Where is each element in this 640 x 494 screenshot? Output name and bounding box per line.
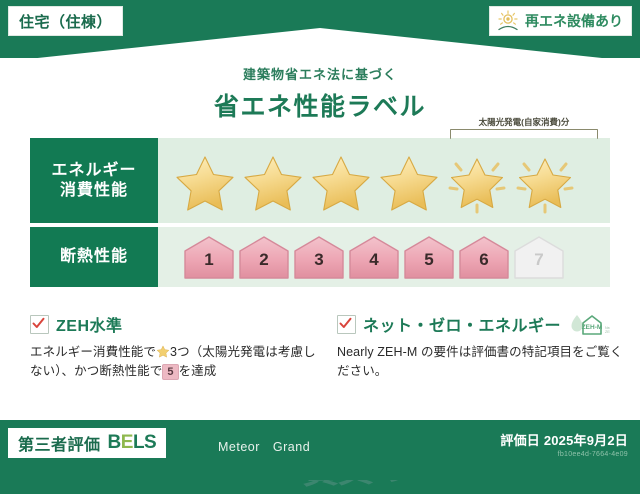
grade-house-number: 7 xyxy=(512,250,566,270)
insulation-performance-row: 断熱性能 1 xyxy=(30,227,610,287)
star-icon xyxy=(172,148,238,214)
evaluation-id: fb10ee4d-7664-4e09 xyxy=(500,451,628,458)
insulation-label-text: 断熱性能 xyxy=(60,247,128,267)
grade-house-number: 1 xyxy=(182,250,236,270)
sun-icon xyxy=(496,10,520,32)
grade-house-number: 2 xyxy=(237,250,291,270)
criterion-net-zero-title: ネット・ゼロ・エネルギー xyxy=(363,312,561,336)
criterion-net-zero: ネット・ゼロ・エネルギー ZEH-M Nearly ZEH-M Nearly Z… xyxy=(337,312,626,382)
bels-logo: BELS xyxy=(108,432,157,454)
inline-star-icon xyxy=(156,344,170,358)
bels-jp-label: 第三者評価 xyxy=(18,431,101,455)
energy-performance-row: エネルギー 消費性能 xyxy=(30,138,610,223)
performance-table: エネルギー 消費性能 xyxy=(30,138,610,291)
criterion-net-zero-header: ネット・ゼロ・エネルギー ZEH-M Nearly ZEH-M xyxy=(337,312,626,336)
grade-house-number: 3 xyxy=(292,250,346,270)
grade-house-6: 6 xyxy=(457,234,511,280)
title-subtitle: 建築物省エネ法に基づく xyxy=(12,64,628,83)
svg-text:ZEH-M: ZEH-M xyxy=(582,324,603,331)
label-body-inner: 建築物省エネ法に基づく 省エネ性能ラベル エネルギー 消費性能 xyxy=(12,60,628,416)
criterion-net-zero-text: Nearly ZEH-M の要件は評価書の特記項目をご覧ください。 xyxy=(337,343,626,382)
criteria-section: ZEH水準 エネルギー消費性能で3つ（太陽光発電は考慮しない）、かつ断熱性能で5… xyxy=(30,312,626,382)
insulation-performance-value: 1 2 xyxy=(158,227,610,287)
star-rating xyxy=(172,148,578,214)
grade-house-4: 4 xyxy=(347,234,401,280)
grade-house-2: 2 xyxy=(237,234,291,280)
criterion-zeh: ZEH水準 エネルギー消費性能で3つ（太陽光発電は考慮しない）、かつ断熱性能で5… xyxy=(30,312,319,382)
renewable-equipment-label: 再エネ設備あり xyxy=(525,11,623,31)
energy-label-line1: エネルギー xyxy=(51,161,136,181)
grade-house-3: 3 xyxy=(292,234,346,280)
criterion-zeh-text-part1: エネルギー消費性能で xyxy=(30,345,156,359)
net-zero-checkbox[interactable] xyxy=(337,315,356,334)
star-icon-solar xyxy=(512,148,578,214)
bracket-line xyxy=(450,129,598,139)
bels-letter-b: B xyxy=(108,432,121,453)
building-type-tag: 住宅（住棟） xyxy=(8,6,123,36)
energy-label-line2: 消費性能 xyxy=(60,181,128,201)
grade-house-number: 5 xyxy=(402,250,456,270)
insulation-performance-label: 断熱性能 xyxy=(30,227,158,287)
footer-bar: 第三者評価 BELS Meteor Grand 評価日 2025年9月2日 fb… xyxy=(0,420,640,480)
bels-letter-e: E xyxy=(121,432,133,453)
evaluation-info: 評価日 2025年9月2日 fb10ee4d-7664-4e09 xyxy=(500,430,628,458)
criterion-zeh-header: ZEH水準 xyxy=(30,312,319,336)
evaluation-date: 評価日 2025年9月2日 xyxy=(500,430,628,449)
grade-house-number: 6 xyxy=(457,250,511,270)
zeh-m-house-icon: ZEH-M Nearly ZEH-M xyxy=(568,312,610,336)
page-title: 省エネ性能ラベル xyxy=(12,87,628,123)
title-block: 建築物省エネ法に基づく 省エネ性能ラベル xyxy=(12,64,628,123)
criterion-zeh-text-part3: を達成 xyxy=(179,364,217,378)
label-body-panel: 建築物省エネ法に基づく 省エネ性能ラベル エネルギー 消費性能 xyxy=(0,58,640,420)
grade-house-5: 5 xyxy=(402,234,456,280)
insulation-grade-scale: 1 2 xyxy=(182,234,566,280)
star-icon xyxy=(376,148,442,214)
grade-house-7: 7 xyxy=(512,234,566,280)
star-icon xyxy=(240,148,306,214)
inline-grade-badge: 5 xyxy=(162,364,178,380)
renewable-equipment-tag: 再エネ設備あり xyxy=(489,6,632,36)
bels-badge: 第三者評価 BELS xyxy=(8,428,166,458)
energy-performance-label: エネルギー 消費性能 xyxy=(30,138,158,223)
grade-house-1: 1 xyxy=(182,234,236,280)
grade-house-number: 4 xyxy=(347,250,401,270)
zeh-checkbox[interactable] xyxy=(30,315,49,334)
svg-text:ZEH-M: ZEH-M xyxy=(605,330,610,334)
check-icon xyxy=(339,317,352,330)
bels-letters-ls: LS xyxy=(133,432,156,453)
check-icon xyxy=(32,317,45,330)
energy-performance-value: 太陽光発電(自家消費)分 xyxy=(158,138,610,223)
star-icon xyxy=(308,148,374,214)
energy-label-root: 住宅（住棟） 再エネ設備あり xyxy=(0,0,640,480)
star-icon-solar xyxy=(444,148,510,214)
criterion-zeh-title: ZEH水準 xyxy=(56,312,123,336)
project-name: Meteor Grand xyxy=(218,436,310,455)
building-type-label: 住宅（住棟） xyxy=(19,11,112,32)
criterion-zeh-text: エネルギー消費性能で3つ（太陽光発電は考慮しない）、かつ断熱性能で5を達成 xyxy=(30,343,319,382)
